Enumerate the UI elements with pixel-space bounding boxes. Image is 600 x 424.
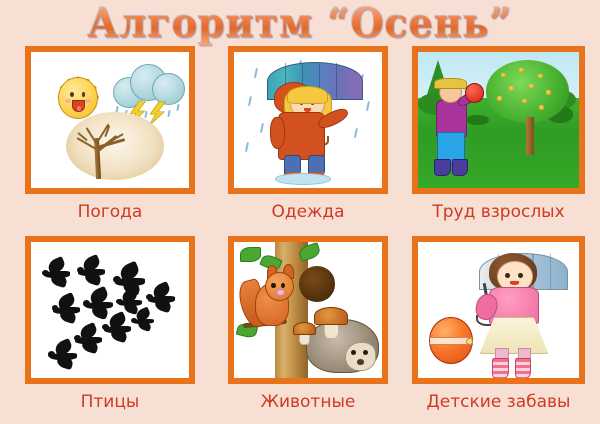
page-title-wrap: Алгоритм “Осень” bbox=[0, 2, 600, 44]
picture-card-adult-labour[interactable] bbox=[412, 46, 585, 194]
illustration-childrens-fun bbox=[418, 242, 579, 378]
tree-hollow bbox=[299, 266, 335, 301]
orange-raincoat bbox=[278, 112, 324, 160]
striped-ball-icon bbox=[429, 317, 473, 364]
card-cell-adult-labour: Труд взрослых bbox=[412, 46, 585, 236]
card-cell-childrens-fun: Детские забавы bbox=[412, 236, 585, 424]
picture-card-clothing[interactable] bbox=[228, 46, 388, 194]
bird-silhouette bbox=[75, 329, 102, 349]
bird-silhouette bbox=[132, 313, 154, 329]
card-cell-animals: Животные bbox=[228, 236, 388, 424]
mushroom-large bbox=[314, 307, 347, 337]
picture-card-childrens-fun[interactable] bbox=[412, 236, 585, 384]
card-label-birds: Птицы bbox=[25, 392, 195, 412]
card-cell-birds: Птицы bbox=[25, 236, 195, 424]
puddle bbox=[275, 173, 330, 185]
illustration-animals bbox=[234, 242, 382, 378]
bare-tree-icon bbox=[66, 112, 164, 180]
bird-silhouette bbox=[53, 299, 80, 319]
illustration-birds bbox=[31, 242, 189, 378]
hedgehog-face bbox=[345, 342, 377, 371]
picture-card-animals[interactable] bbox=[228, 236, 388, 384]
card-label-animals: Животные bbox=[228, 392, 388, 412]
apple-tree bbox=[486, 60, 570, 123]
picture-card-weather[interactable] bbox=[25, 46, 195, 194]
bird-silhouette bbox=[148, 288, 175, 308]
bird-silhouette bbox=[85, 294, 113, 316]
bird-silhouette bbox=[104, 318, 131, 338]
bird-silhouette bbox=[50, 345, 77, 365]
illustration-weather bbox=[31, 52, 189, 188]
bird-silhouette bbox=[44, 264, 71, 284]
bird-silhouette bbox=[118, 294, 142, 312]
illustration-clothing bbox=[234, 52, 382, 188]
squirrel-head bbox=[265, 272, 294, 301]
striped-boot-right bbox=[515, 358, 531, 379]
card-label-adult-labour: Труд взрослых bbox=[412, 202, 585, 222]
red-apple-icon bbox=[465, 83, 485, 103]
sun-face bbox=[58, 77, 98, 119]
card-label-childrens-fun: Детские забавы bbox=[412, 392, 585, 412]
card-label-clothing: Одежда bbox=[228, 202, 388, 222]
card-cell-clothing: Одежда bbox=[228, 46, 388, 236]
picture-card-birds[interactable] bbox=[25, 236, 195, 384]
page-title: Алгоритм “Осень” bbox=[88, 1, 513, 46]
bird-silhouette bbox=[78, 261, 105, 281]
illustration-adult-labour bbox=[418, 52, 579, 188]
algorithm-card-grid: Погода bbox=[0, 46, 600, 424]
card-label-weather: Погода bbox=[25, 202, 195, 222]
straw-hat-icon bbox=[434, 78, 467, 90]
card-cell-weather: Погода bbox=[25, 46, 195, 236]
striped-boot-left bbox=[492, 358, 508, 379]
mushroom-small bbox=[293, 322, 314, 342]
